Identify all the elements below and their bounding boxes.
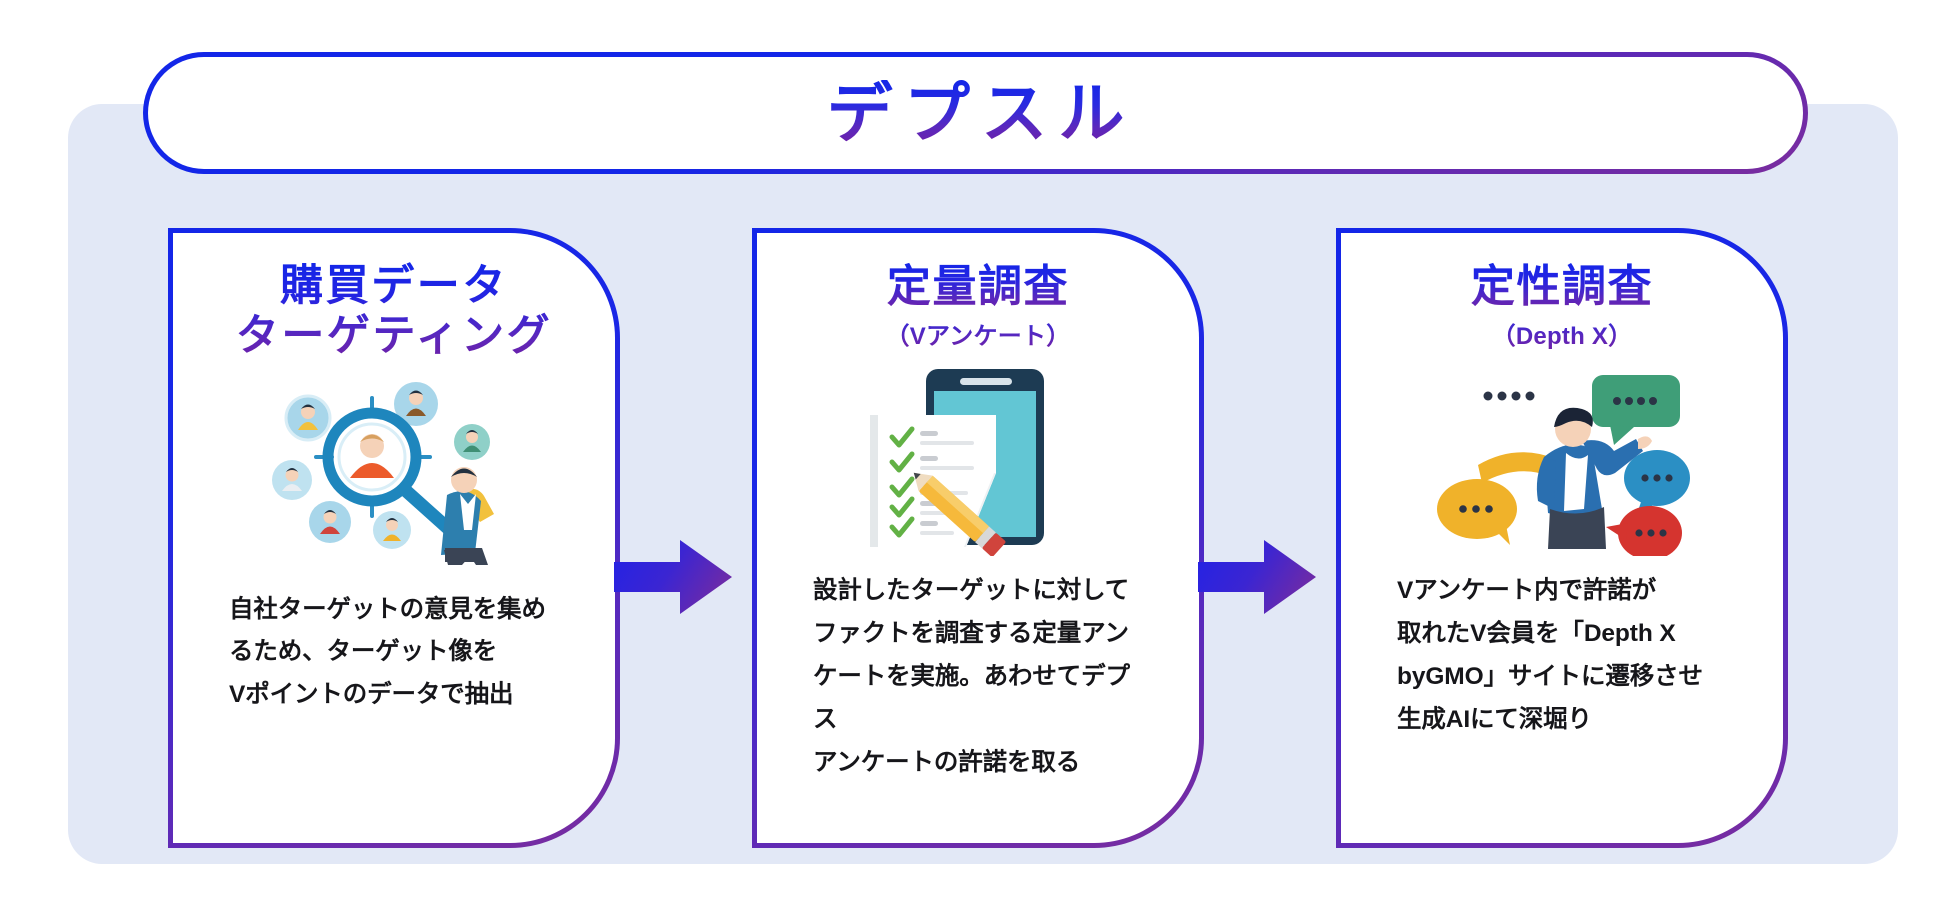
diagram-canvas: デプスル 購買データ ターゲティング [0,0,1950,913]
step-title-2: 定量調査 [887,261,1069,312]
smartphone-checklist-survey-icon [848,361,1108,556]
person-speech-bubbles-interview-icon [1432,361,1692,556]
target-audience-magnifier-icon [264,372,524,567]
step-card-3[interactable]: 定性調査 （Depth X） [1336,228,1788,848]
step-card-2[interactable]: 定量調査 （Vアンケート） [752,228,1204,848]
step-subtitle-2: （Vアンケート） [886,316,1071,351]
step-title-3: 定性調査 [1471,261,1653,312]
arrow-step1-to-step2 [614,540,732,614]
step-body-3: Vアンケート内で許諾が 取れたV会員を「Depth X byGMO」サイトに遷移… [1397,570,1727,742]
steps-row: 購買データ ターゲティング [0,228,1950,848]
page-title: デプスル [815,80,1135,146]
step-body-2: 設計したターゲットに対して ファクトを調査する定量アン ケートを実施。あわせてデ… [813,570,1143,784]
step-subtitle-3: （Depth X） [1492,316,1633,351]
step-title-1: 購買データ ターゲティング [236,261,552,362]
arrow-step2-to-step3 [1198,540,1316,614]
header-pill: デプスル [143,52,1808,174]
step-body-1: 自社ターゲットの意見を集め るため、ターゲット像を Vポイントのデータで抽出 [229,589,559,718]
step-card-1[interactable]: 購買データ ターゲティング [168,228,620,848]
